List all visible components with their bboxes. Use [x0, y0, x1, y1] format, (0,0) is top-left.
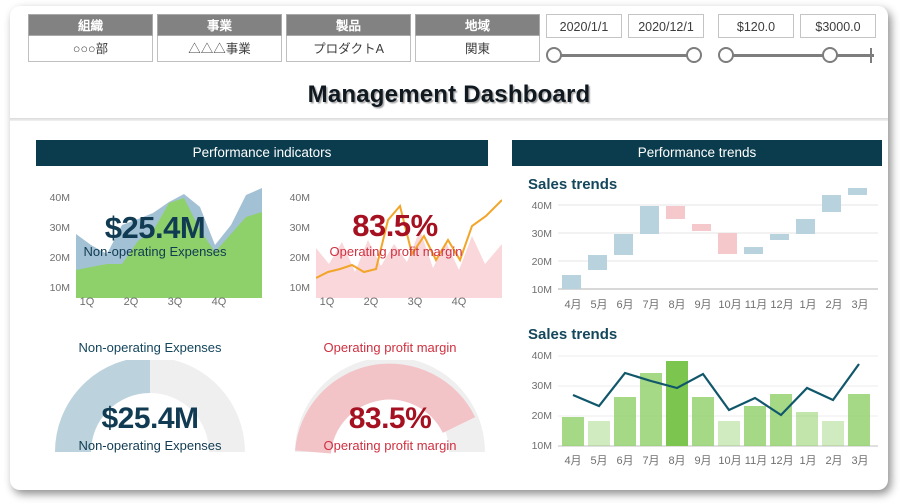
kpi-expenses-label: Non-operating Expenses [62, 244, 248, 259]
value-slider-knob-min[interactable] [718, 47, 734, 63]
title-bar: Management Dashboard [10, 78, 888, 118]
filter-region-value[interactable]: 関東 [415, 36, 540, 62]
x-tick-4: 4月 [560, 452, 586, 468]
value-range-boxes: $120.0 $3000.0 [718, 14, 876, 38]
filter-organization-header: 組織 [28, 14, 153, 36]
x-tick-9: 9月 [690, 296, 716, 312]
combo-sales-plot [558, 330, 878, 452]
filter-region-header: 地域 [415, 14, 540, 36]
date-from-input[interactable]: 2020/1/1 [546, 14, 622, 38]
x-tick-1q: 1Q [312, 296, 342, 308]
value-slider-knob-max[interactable] [822, 47, 838, 63]
x-tick-1: 1月 [795, 296, 821, 312]
x-tick-4q: 4Q [204, 296, 234, 308]
y-tick-30m: 30M [518, 228, 552, 240]
y-tick-20m: 20M [518, 256, 552, 268]
filter-business[interactable]: 事業 △△△事業 [157, 14, 282, 62]
filter-organization-value[interactable]: ○○○部 [28, 36, 153, 62]
x-tick-2: 2月 [821, 452, 847, 468]
value-min-input[interactable]: $120.0 [718, 14, 794, 38]
gauge-expenses-footer: Non-operating Expenses [40, 438, 260, 453]
x-tick-3q: 3Q [400, 296, 430, 308]
y-tick-40m: 40M [276, 192, 310, 204]
page-title: Management Dashboard [10, 78, 888, 112]
x-tick-9: 9月 [690, 452, 716, 468]
date-slider-track[interactable] [554, 54, 696, 57]
value-range-filter: $120.0 $3000.0 [718, 14, 876, 69]
date-slider-knob-min[interactable] [546, 47, 562, 63]
y-tick-40m: 40M [518, 350, 552, 362]
y-tick-20m: 20M [518, 410, 552, 422]
x-tick-12: 12月 [767, 452, 797, 468]
date-slider-knob-max[interactable] [686, 47, 702, 63]
x-tick-2q: 2Q [116, 296, 146, 308]
x-tick-5: 5月 [586, 452, 612, 468]
filter-product-header: 製品 [286, 14, 411, 36]
y-tick-10m: 10M [276, 282, 310, 294]
value-slider-track[interactable] [726, 54, 874, 57]
gauge-margin-value: 83.5% [280, 402, 500, 436]
x-tick-7: 7月 [638, 296, 664, 312]
filter-product-value[interactable]: プロダクトA [286, 36, 411, 62]
waterfall-sales-chart[interactable]: Sales trends 40M 30M 20M 10M 4月 5月 6月 7月 [518, 176, 882, 316]
x-tick-3q: 3Q [160, 296, 190, 308]
x-tick-8: 8月 [664, 296, 690, 312]
x-tick-6: 6月 [612, 296, 638, 312]
panel-header-performance-indicators[interactable]: Performance indicators [36, 140, 488, 166]
x-tick-2: 2月 [821, 296, 847, 312]
kpi-area-expenses-chart[interactable]: 40M 30M 20M 10M $25.4M Non-operating Exp… [36, 182, 262, 308]
gauge-expenses-chart[interactable]: Non-operating Expenses $25.4M Non-operat… [40, 340, 260, 462]
y-tick-40m: 40M [518, 200, 552, 212]
value-max-input[interactable]: $3000.0 [800, 14, 876, 38]
kpi-area-margin-chart[interactable]: 40M 30M 20M 10M 83.5% Operating profit m… [276, 182, 502, 308]
filter-product[interactable]: 製品 プロダクトA [286, 14, 411, 62]
x-tick-12: 12月 [767, 296, 797, 312]
y-tick-30m: 30M [518, 380, 552, 392]
gauge-expenses-title: Non-operating Expenses [40, 340, 260, 355]
y-tick-10m: 10M [36, 282, 70, 294]
value-range-slider[interactable] [718, 43, 876, 69]
x-tick-4: 4月 [560, 296, 586, 312]
x-tick-3: 3月 [847, 296, 873, 312]
filter-business-value[interactable]: △△△事業 [157, 36, 282, 62]
x-tick-1: 1月 [795, 452, 821, 468]
gauge-expenses-value: $25.4M [40, 402, 260, 436]
filter-bar: 組織 ○○○部 事業 △△△事業 製品 プロダクトA 地域 関東 2020/1/… [10, 6, 888, 78]
date-to-input[interactable]: 2020/12/1 [628, 14, 704, 38]
x-tick-8: 8月 [664, 452, 690, 468]
kpi-margin-value: 83.5% [302, 208, 488, 244]
filter-table: 組織 ○○○部 事業 △△△事業 製品 プロダクトA 地域 関東 [28, 14, 540, 62]
y-tick-10m: 10M [518, 284, 552, 296]
filter-organization[interactable]: 組織 ○○○部 [28, 14, 153, 62]
x-tick-5: 5月 [586, 296, 612, 312]
date-range-filter: 2020/1/1 2020/12/1 [546, 14, 704, 69]
filter-business-header: 事業 [157, 14, 282, 36]
date-range-boxes: 2020/1/1 2020/12/1 [546, 14, 704, 38]
date-range-slider[interactable] [546, 43, 704, 69]
x-tick-1q: 1Q [72, 296, 102, 308]
gauge-margin-title: Operating profit margin [280, 340, 500, 355]
gauge-margin-footer: Operating profit margin [280, 438, 500, 453]
y-tick-10m: 10M [518, 440, 552, 452]
x-tick-3: 3月 [847, 452, 873, 468]
panel-header-performance-trends[interactable]: Performance trends [512, 140, 882, 166]
kpi-expenses-value: $25.4M [62, 210, 248, 246]
filter-region[interactable]: 地域 関東 [415, 14, 540, 62]
value-slider-end-tick [870, 48, 872, 63]
y-tick-40m: 40M [36, 192, 70, 204]
x-tick-2q: 2Q [356, 296, 386, 308]
waterfall-sales-plot [558, 180, 878, 296]
dashboard-window: 組織 ○○○部 事業 △△△事業 製品 プロダクトA 地域 関東 2020/1/… [10, 6, 888, 490]
x-tick-6: 6月 [612, 452, 638, 468]
title-divider [10, 118, 888, 121]
kpi-margin-label: Operating profit margin [296, 244, 496, 259]
combo-sales-chart[interactable]: Sales trends 40M 30M 20M 10M 4月 5月 6月 [518, 326, 882, 471]
gauge-margin-chart[interactable]: Operating profit margin 83.5% Operating … [280, 340, 500, 462]
x-tick-4q: 4Q [444, 296, 474, 308]
x-tick-7: 7月 [638, 452, 664, 468]
